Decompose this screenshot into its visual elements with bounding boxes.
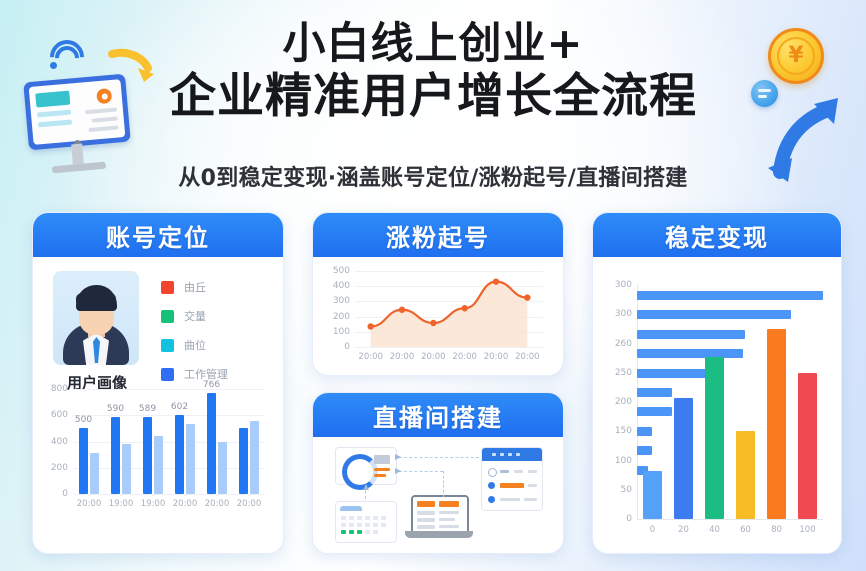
bar-value-label: 590 bbox=[107, 404, 124, 414]
header: 小白线上创业+ 企业精准用户增长全流程 从0到稳定变现·涵盖账号定位/涨粉起号/… bbox=[0, 0, 866, 205]
bar bbox=[111, 417, 120, 494]
y-axis-tick: 800 bbox=[51, 384, 68, 394]
y-axis-tick: 100 bbox=[615, 456, 632, 466]
bar bbox=[186, 424, 195, 494]
vertical-bar bbox=[798, 373, 817, 519]
y-axis-tick: 300 bbox=[615, 309, 632, 319]
card-header-account-positioning: 账号定位 bbox=[33, 213, 283, 257]
x-axis-tick: 60 bbox=[740, 525, 751, 535]
horizontal-bar bbox=[637, 349, 743, 358]
avatar bbox=[53, 271, 139, 365]
fan-growth-area-chart: 010020030040050020:0020:0020:0020:0020:0… bbox=[355, 271, 543, 347]
y-axis-tick: 260 bbox=[615, 339, 632, 349]
live-room-diagram bbox=[313, 437, 563, 551]
card-header-monetization: 稳定变现 bbox=[593, 213, 841, 257]
diagram-connector bbox=[399, 457, 479, 458]
x-axis-tick: 20:00 bbox=[484, 352, 509, 362]
x-axis-tick: 20:00 bbox=[173, 499, 198, 509]
x-axis-tick: 19:00 bbox=[141, 499, 166, 509]
x-axis-tick: 20 bbox=[678, 525, 689, 535]
x-axis-tick: 20:00 bbox=[390, 352, 415, 362]
bar bbox=[175, 415, 184, 494]
x-axis-tick: 20:00 bbox=[515, 352, 540, 362]
card-account-positioning[interactable]: 账号定位 用户画像 由丘 bbox=[32, 212, 284, 554]
x-axis-tick: 20:00 bbox=[77, 499, 102, 509]
x-axis-tick: 20:00 bbox=[421, 352, 446, 362]
gridline bbox=[73, 389, 265, 390]
card-title-live-room: 直播间搭建 bbox=[373, 398, 503, 433]
x-axis-line bbox=[637, 519, 823, 520]
y-axis-tick: 200 bbox=[333, 312, 350, 322]
vertical-bar bbox=[736, 431, 755, 519]
bar bbox=[218, 442, 227, 495]
user-profile-block: 用户画像 bbox=[53, 271, 141, 393]
gridline bbox=[73, 468, 265, 469]
legend-label: 由丘 bbox=[184, 279, 206, 295]
x-axis-tick: 80 bbox=[771, 525, 782, 535]
card-title-monetization: 稳定变现 bbox=[665, 218, 769, 253]
y-axis-tick: 300 bbox=[615, 280, 632, 290]
diagram-arrow-icon bbox=[361, 483, 371, 493]
legend-swatch bbox=[161, 368, 174, 381]
bar-value-label: 602 bbox=[171, 402, 188, 412]
area-series bbox=[355, 271, 543, 347]
title-line-2: 企业精准用户增长全流程 bbox=[0, 72, 866, 122]
gridline bbox=[73, 494, 265, 495]
x-axis-tick: 0 bbox=[650, 525, 655, 535]
legend-label: 曲位 bbox=[184, 337, 206, 353]
x-axis-tick: 20:00 bbox=[452, 352, 477, 362]
y-axis-tick: 250 bbox=[615, 368, 632, 378]
vertical-bar bbox=[643, 471, 662, 519]
horizontal-bar bbox=[637, 291, 823, 300]
diagram-list-panel bbox=[481, 447, 543, 511]
legend-swatch bbox=[161, 339, 174, 352]
card-fan-growth[interactable]: 涨粉起号 010020030040050020:0020:0020:0020:0… bbox=[312, 212, 564, 376]
legend-item: 由丘 bbox=[161, 279, 228, 295]
horizontal-bar bbox=[637, 446, 652, 455]
legend-swatch bbox=[161, 281, 174, 294]
gridline bbox=[73, 442, 265, 443]
card-live-room[interactable]: 直播间搭建 bbox=[312, 392, 564, 554]
y-axis-tick: 200 bbox=[51, 463, 68, 473]
y-axis-tick: 100 bbox=[333, 327, 350, 337]
y-axis-tick: 300 bbox=[333, 296, 350, 306]
bar bbox=[90, 453, 99, 494]
legend-label: 交量 bbox=[184, 308, 206, 324]
card-body-account-positioning: 用户画像 由丘 交量 曲位 工作管理 bbox=[33, 257, 283, 551]
x-axis-tick: 20:00 bbox=[358, 352, 383, 362]
diagram-connector bbox=[443, 471, 444, 497]
horizontal-bar bbox=[637, 330, 745, 339]
horizontal-bar bbox=[637, 388, 672, 397]
horizontal-bar bbox=[637, 310, 791, 319]
legend-account-positioning: 由丘 交量 曲位 工作管理 bbox=[161, 279, 228, 395]
card-header-fan-growth: 涨粉起号 bbox=[313, 213, 563, 257]
diagram-calendar-panel bbox=[335, 501, 397, 543]
y-axis-tick: 500 bbox=[333, 266, 350, 276]
x-axis-tick: 40 bbox=[709, 525, 720, 535]
legend-swatch bbox=[161, 310, 174, 323]
card-body-monetization: 300300260250200150100500020406080100 bbox=[593, 257, 841, 551]
y-axis-tick: 400 bbox=[333, 281, 350, 291]
y-axis-tick: 0 bbox=[62, 489, 68, 499]
bar bbox=[79, 428, 88, 494]
y-axis-tick: 0 bbox=[344, 342, 350, 352]
gridline bbox=[355, 347, 543, 348]
account-bar-chart: 020040060080050020:0059019:0058919:00602… bbox=[73, 389, 265, 494]
page-title: 小白线上创业+ 企业精准用户增长全流程 bbox=[0, 22, 866, 121]
yuan-coin-icon: ¥ bbox=[768, 28, 824, 84]
bar-value-label: 589 bbox=[139, 404, 156, 414]
y-axis-tick: 600 bbox=[51, 410, 68, 420]
y-axis-tick: 0 bbox=[626, 514, 632, 524]
card-body-fan-growth: 010020030040050020:0020:0020:0020:0020:0… bbox=[313, 257, 563, 373]
bar bbox=[154, 436, 163, 494]
bar-value-label: 500 bbox=[75, 415, 92, 425]
bar-value-label: 766 bbox=[203, 380, 220, 390]
gridline bbox=[73, 415, 265, 416]
bar bbox=[239, 428, 248, 494]
title-line-1: 小白线上创业+ bbox=[0, 22, 866, 68]
diagram-arrow-icon bbox=[393, 466, 403, 476]
diagram-connector bbox=[399, 471, 443, 472]
horizontal-bar bbox=[637, 427, 652, 436]
bar bbox=[143, 417, 152, 494]
bar bbox=[122, 444, 131, 494]
y-axis-line bbox=[637, 285, 638, 519]
x-axis-tick: 19:00 bbox=[109, 499, 134, 509]
vertical-bar bbox=[705, 357, 724, 519]
y-axis-tick: 200 bbox=[615, 397, 632, 407]
card-title-fan-growth: 涨粉起号 bbox=[386, 218, 490, 253]
poster-root: 小白线上创业+ 企业精准用户增长全流程 从0到稳定变现·涵盖账号定位/涨粉起号/… bbox=[0, 0, 866, 571]
diagram-dashboard-panel bbox=[335, 447, 397, 485]
y-axis-tick: 150 bbox=[615, 426, 632, 436]
card-header-live-room: 直播间搭建 bbox=[313, 393, 563, 437]
legend-item: 交量 bbox=[161, 308, 228, 324]
y-axis-tick: 400 bbox=[51, 437, 68, 447]
vertical-bar bbox=[767, 329, 786, 519]
monetization-combo-chart: 300300260250200150100500020406080100 bbox=[637, 285, 823, 519]
bar bbox=[207, 393, 216, 494]
yuan-symbol: ¥ bbox=[788, 45, 803, 67]
diagram-arrow-icon bbox=[393, 452, 403, 462]
x-axis-tick: 100 bbox=[799, 525, 815, 535]
legend-item: 曲位 bbox=[161, 337, 228, 353]
horizontal-bar bbox=[637, 407, 672, 416]
diagram-laptop-icon bbox=[405, 495, 475, 543]
blue-double-arrow-icon bbox=[762, 88, 848, 186]
x-axis-tick: 20:00 bbox=[205, 499, 230, 509]
bar bbox=[250, 421, 259, 495]
vertical-bar bbox=[674, 398, 693, 519]
card-title-account-positioning: 账号定位 bbox=[106, 218, 210, 253]
page-subtitle: 从0到稳定变现·涵盖账号定位/涨粉起号/直播间搭建 bbox=[0, 160, 866, 192]
card-monetization[interactable]: 稳定变现 30030026025020015010050002040608010… bbox=[592, 212, 842, 554]
y-axis-tick: 50 bbox=[621, 485, 632, 495]
card-body-live-room bbox=[313, 437, 563, 551]
x-axis-tick: 20:00 bbox=[237, 499, 262, 509]
